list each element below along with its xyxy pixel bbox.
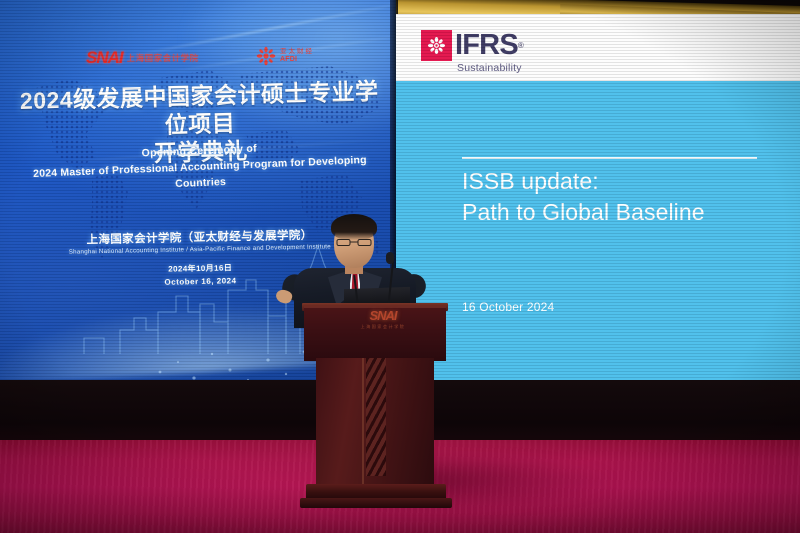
right-led-screen-ifrs-slide: IFRS ® Sustainability ISSB update: Path …	[396, 14, 800, 384]
ifrs-logo: IFRS ® Sustainability	[421, 30, 524, 74]
slide-title-rule	[462, 157, 757, 159]
speaker-glasses-icon	[336, 234, 372, 243]
podium-snai-mark: SNAI	[352, 308, 414, 323]
afdi-logo-text: 亚太财经 AFDI	[280, 49, 314, 63]
ifrs-flower-icon	[421, 30, 452, 61]
microphone-head	[386, 252, 394, 264]
podium-snai-subtext: 上海国家会计学院	[352, 324, 414, 330]
ifrs-logo-top: IFRS ®	[421, 30, 524, 61]
event-title-chinese-line1: 2024级发展中国家会计硕士专业学位项目	[20, 78, 379, 138]
afdi-logo-english: AFDI	[280, 56, 314, 63]
slide-title-line1: ISSB update:	[462, 168, 599, 194]
ifrs-logo-subtitle: Sustainability	[457, 62, 524, 74]
snai-logo-chinese: 上海国家会计学院	[127, 52, 199, 64]
snai-logo: SNAI 上海国家会计学院	[86, 48, 199, 68]
stage-scene: SNAI 上海国家会计学院	[0, 0, 800, 533]
slide-header-bar: IFRS ® Sustainability	[396, 14, 800, 81]
podium-column-edge	[362, 358, 364, 486]
slide-date: 16 October 2024	[462, 300, 554, 314]
screen-logo-row: SNAI 上海国家会计学院	[0, 44, 396, 78]
slide-title-line2: Path to Global Baseline	[462, 197, 792, 228]
podium-carved-column	[366, 358, 386, 476]
afdi-logo-chinese: 亚太财经	[280, 49, 314, 56]
afdi-logo: 亚太财经 AFDI	[256, 46, 314, 66]
podium-base-plinth	[300, 498, 452, 508]
ifrs-trademark-symbol: ®	[518, 41, 524, 50]
ifrs-wordmark: IFRS	[455, 31, 518, 60]
slide-title: ISSB update: Path to Global Baseline	[462, 166, 792, 227]
snai-logo-mark: SNAI	[86, 48, 123, 68]
afdi-logo-icon	[256, 46, 276, 66]
podium-snai-logo: SNAI 上海国家会计学院	[352, 308, 414, 330]
